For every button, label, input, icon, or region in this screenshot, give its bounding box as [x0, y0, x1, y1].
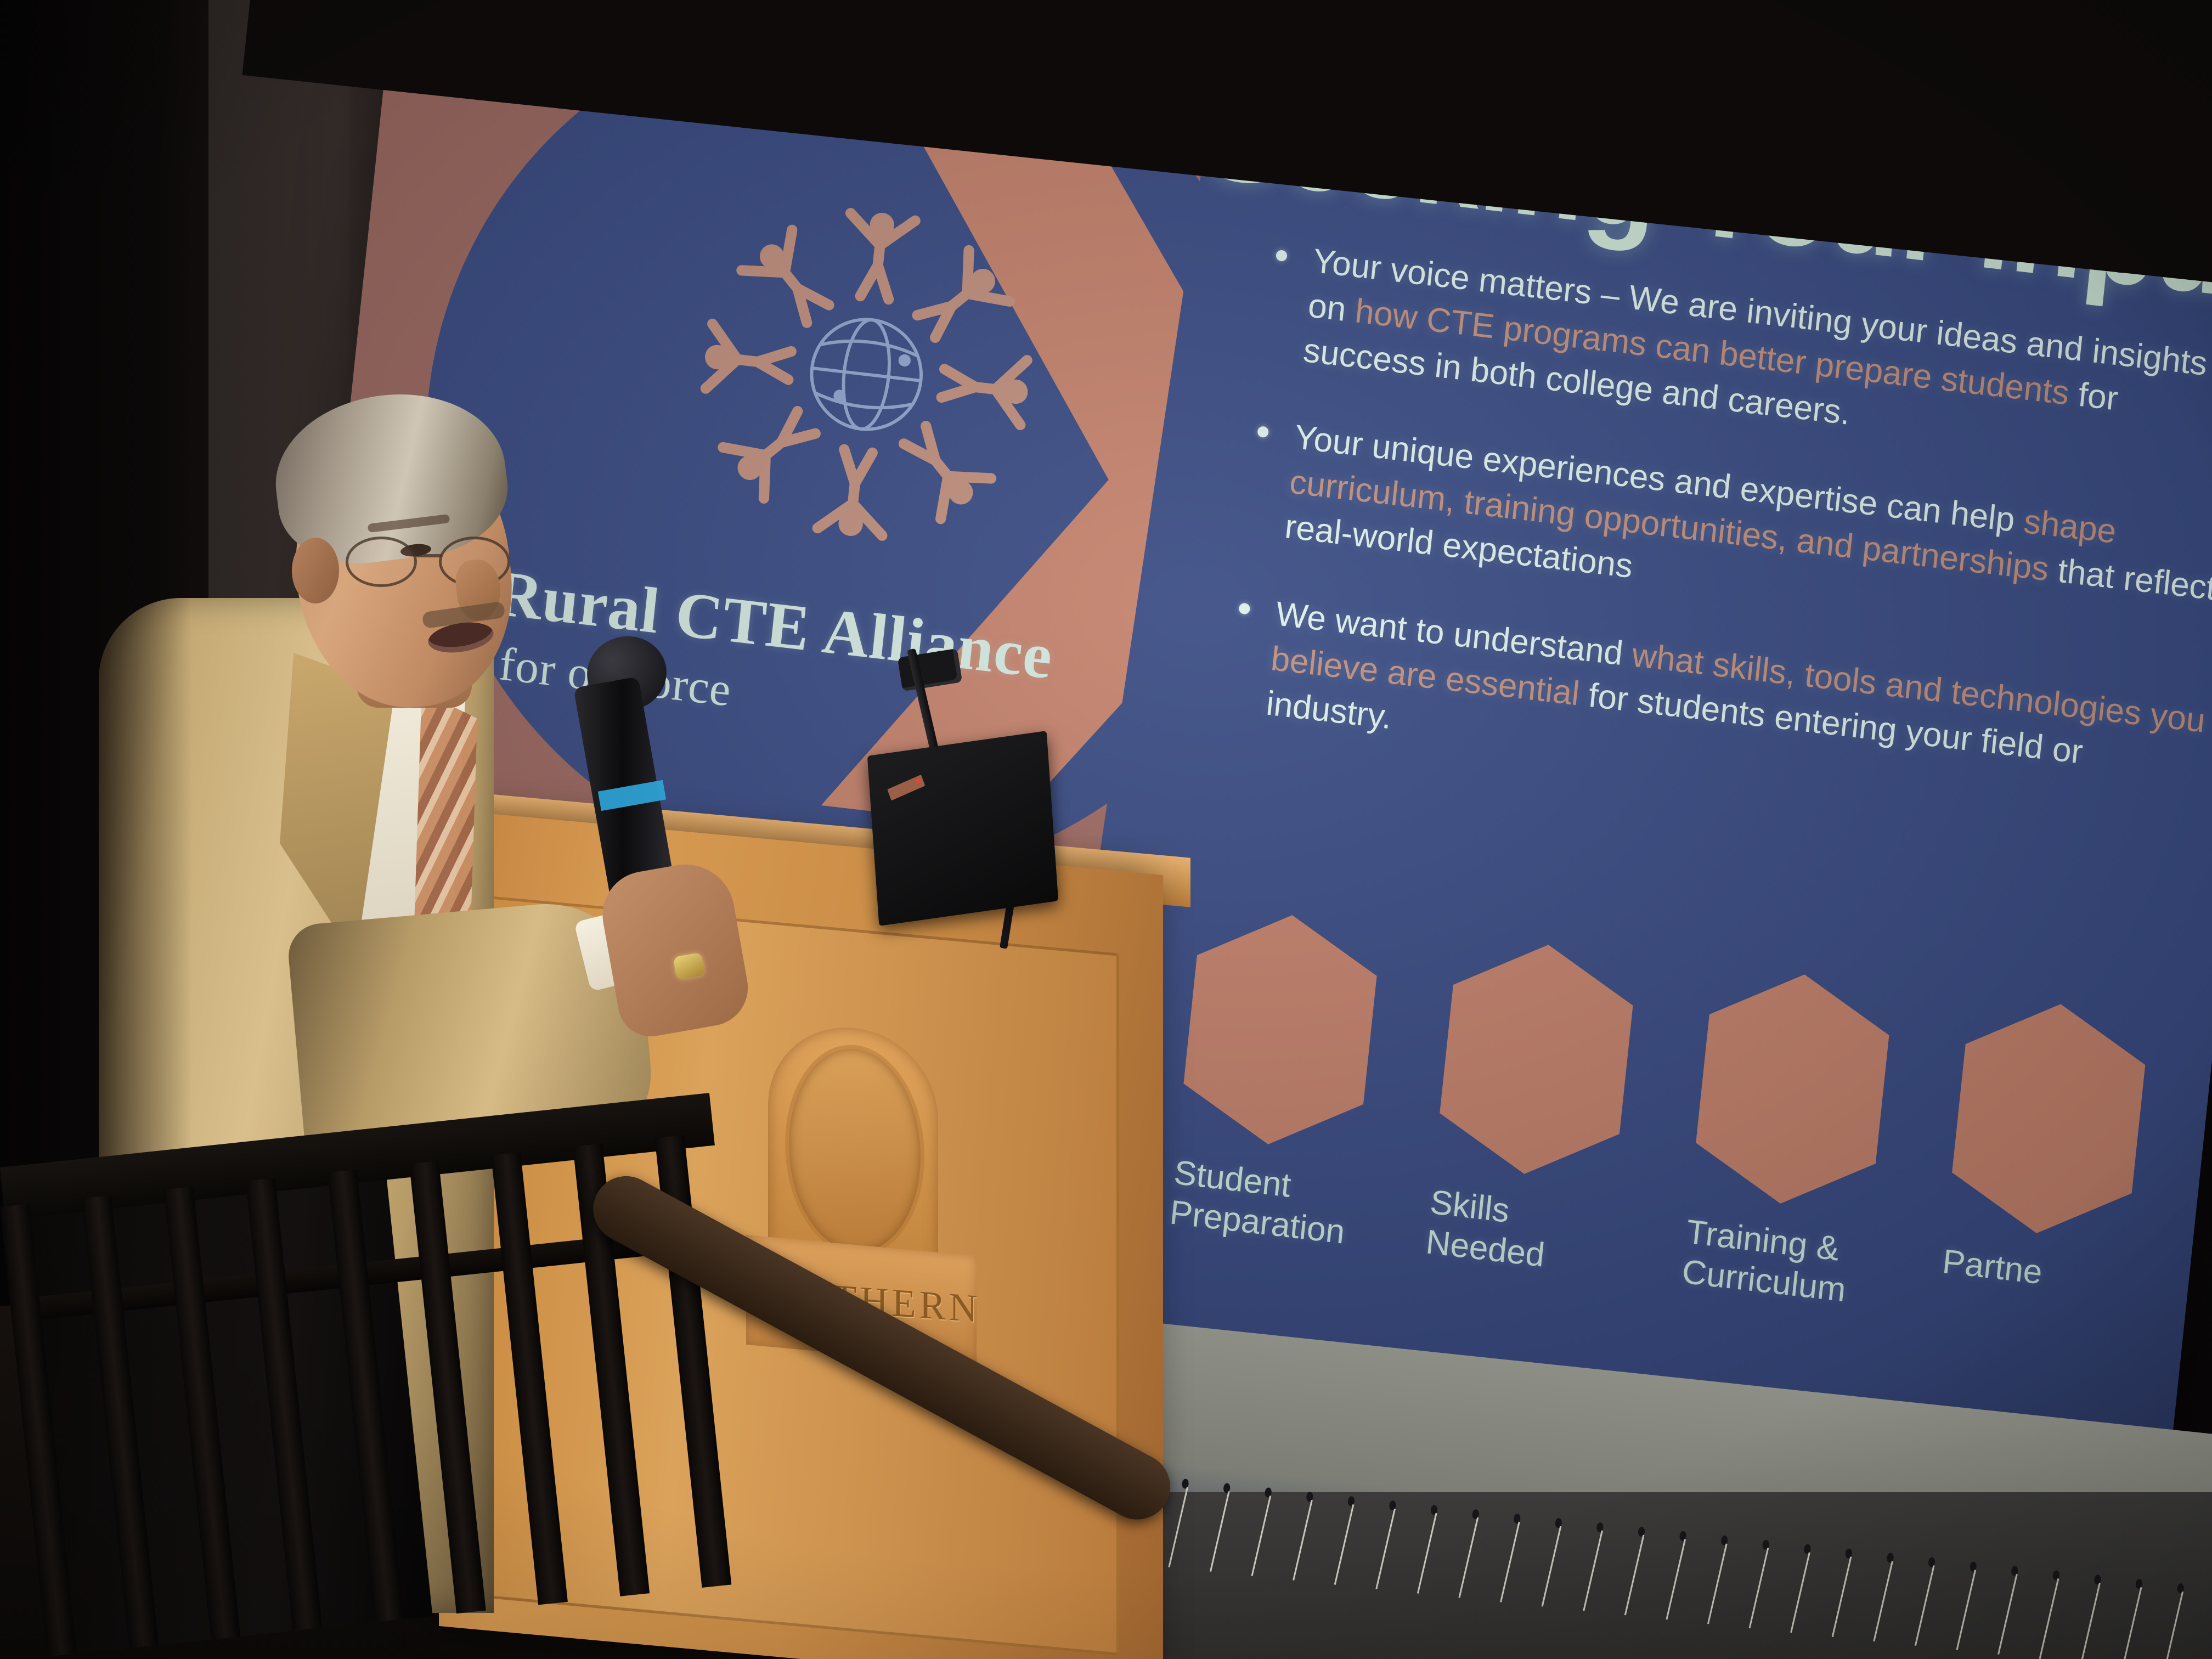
screen-grommet	[1762, 1539, 1770, 1550]
icon-cell-skills-needed: SkillsNeeded	[1413, 933, 1704, 1290]
presentation-photo-scene: Rural CTE Alliance for orkforce Seeking …	[0, 0, 2212, 1659]
screen-grommet	[2052, 1570, 2060, 1581]
screen-grommet	[1513, 1514, 1521, 1524]
ear	[292, 538, 339, 603]
screen-grommet	[1223, 1483, 1231, 1493]
screen-grommet	[1347, 1496, 1355, 1506]
hexagon-badge	[1178, 905, 1383, 1155]
screen-grommet	[2177, 1583, 2185, 1594]
laptop-logo-badge	[887, 775, 925, 800]
glasses-bridge	[416, 554, 442, 557]
railing-post	[409, 1161, 486, 1613]
railing-post	[246, 1178, 323, 1630]
screen-grommet	[1430, 1505, 1438, 1515]
icon-cell-partnerships: Partne	[1926, 992, 2212, 1350]
screen-grommet	[1638, 1526, 1645, 1537]
screen-grommet	[1182, 1479, 1189, 1489]
bullet-dot-icon	[1257, 426, 1269, 438]
screen-grommet	[2011, 1566, 2018, 1576]
screen-grommet	[1596, 1522, 1604, 1532]
screen-grommet	[1887, 1553, 1894, 1563]
railing-post	[491, 1152, 568, 1605]
screen-grommet	[1970, 1561, 1977, 1572]
screen-grommet	[1472, 1509, 1480, 1520]
hexagon-badge	[1946, 994, 2151, 1244]
railing-post	[82, 1195, 159, 1648]
slide-bullet-list: Your voice matters – We are inviting you…	[1217, 234, 2212, 876]
globe-people-circle-icon	[644, 149, 1089, 600]
icon-label: Partne	[1940, 1242, 2124, 1302]
lens-left	[346, 537, 417, 587]
thinkpad-laptop-icon	[867, 731, 1058, 926]
bullet-dot-icon	[1276, 250, 1288, 262]
icon-cell-training-curriculum: Training &Curriculum	[1669, 963, 1960, 1320]
screen-grommet	[2135, 1579, 2143, 1589]
railing-post	[328, 1170, 404, 1622]
railing-post	[163, 1187, 240, 1639]
hexagon-badge	[1435, 934, 1639, 1184]
screen-grommet	[1306, 1492, 1313, 1502]
screen-grommet	[1720, 1535, 1728, 1545]
head	[263, 395, 527, 724]
screen-grommet	[1845, 1548, 1853, 1559]
screen-grommet	[1555, 1517, 1562, 1528]
bullet-dot-icon	[1238, 602, 1250, 614]
screen-grommet	[1928, 1557, 1936, 1567]
screen-grommet	[1265, 1487, 1272, 1498]
screen-grommet	[1679, 1531, 1687, 1541]
icon-cell-student-preparation: StudentPreparation	[1157, 904, 1448, 1261]
screen-grommet	[1803, 1544, 1811, 1554]
screen-grommet	[2093, 1575, 2101, 1585]
screen-grommet	[1389, 1500, 1397, 1511]
hexagon-badge	[1690, 964, 1894, 1214]
